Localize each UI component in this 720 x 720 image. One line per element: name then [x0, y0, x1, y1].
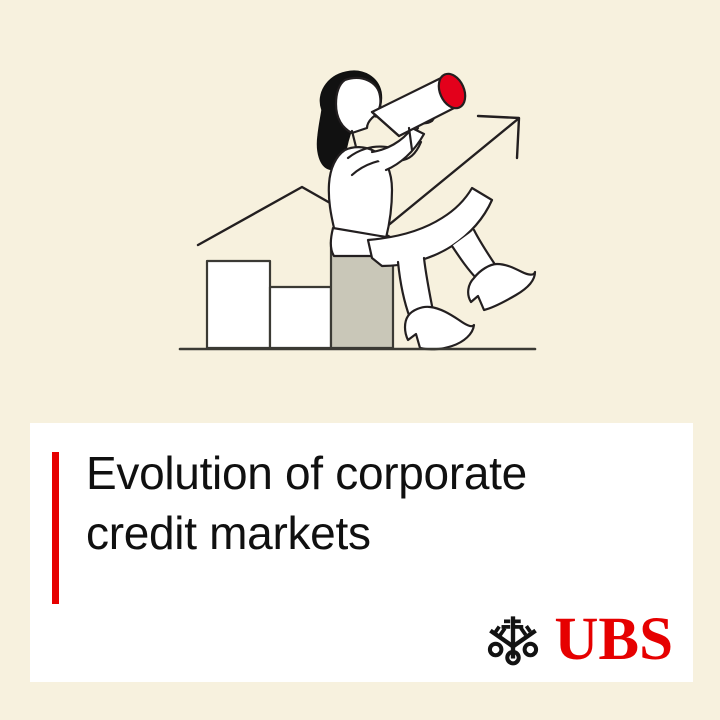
page-title-line-1: Evolution of corporate	[86, 443, 626, 503]
bar-2	[270, 287, 331, 348]
figure-head	[336, 78, 380, 133]
ubs-three-keys-icon	[482, 608, 544, 670]
red-accent-bar	[52, 452, 59, 604]
ubs-logo: UBS	[482, 608, 673, 670]
page-title: Evolution of corporate credit markets	[86, 443, 626, 563]
title-card: Evolution of corporate credit markets	[30, 423, 693, 682]
ubs-wordmark: UBS	[554, 609, 673, 670]
page-title-line-2: credit markets	[86, 503, 626, 563]
bar-1	[207, 261, 270, 348]
figure-boot-lower	[405, 307, 474, 349]
hero-illustration	[0, 0, 720, 400]
page-root: Evolution of corporate credit markets	[0, 0, 720, 720]
